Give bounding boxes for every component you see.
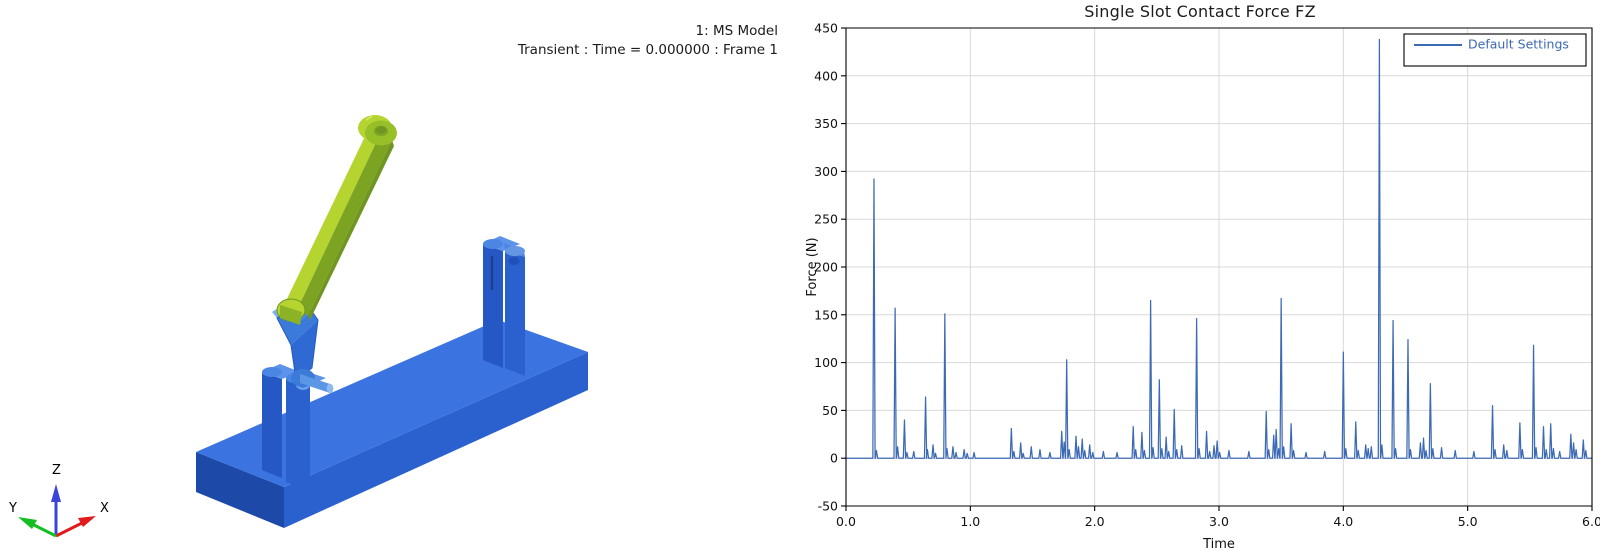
force-plot-svg[interactable]: -500501001502002503003504004500.01.02.03… (800, 0, 1600, 560)
x-tick-label: 6.0 (1582, 514, 1600, 529)
y-tick-label: 350 (814, 116, 838, 131)
y-tick-label: 300 (814, 164, 838, 179)
triad-z-axis: Z (51, 463, 61, 536)
plot-gridlines (846, 28, 1592, 506)
connecting-rod[interactable] (277, 115, 397, 325)
triad-z-label: Z (52, 463, 61, 478)
x-tick-label: 0.0 (836, 514, 856, 529)
plot-axis-labels: -500501001502002503003504004500.01.02.03… (805, 21, 1600, 553)
x-tick-label: 5.0 (1458, 514, 1478, 529)
model-viewport[interactable]: 1: MS Model Transient : Time = 0.000000 … (0, 0, 800, 560)
y-tick-label: 450 (814, 21, 838, 36)
force-plot-panel[interactable]: Single Slot Contact Force FZ -5005010015… (800, 0, 1600, 560)
y-tick-label: 0 (830, 451, 838, 466)
y-tick-label: 150 (814, 307, 838, 322)
coordinate-triad: Z X Y (4, 444, 134, 554)
application-window: 1: MS Model Transient : Time = 0.000000 … (0, 0, 1600, 560)
y-tick-label: 400 (814, 68, 838, 83)
x-tick-label: 2.0 (1085, 514, 1105, 529)
triad-x-label: X (100, 501, 109, 516)
y-tick-label: -50 (818, 499, 838, 514)
legend-label: Default Settings (1468, 37, 1569, 52)
base-plate[interactable] (196, 320, 588, 528)
plot-axes (841, 28, 1592, 511)
x-tick-label: 3.0 (1209, 514, 1229, 529)
y-tick-label: 100 (814, 355, 838, 370)
x-tick-label: 1.0 (960, 514, 980, 529)
x-axis-title: Time (1202, 537, 1235, 552)
triad-y-axis: Y (8, 501, 56, 536)
y-axis-title: Force (N) (805, 237, 820, 296)
y-tick-label: 50 (822, 403, 838, 418)
plot-legend[interactable]: Default Settings (1404, 34, 1586, 66)
triad-y-label: Y (8, 501, 17, 516)
triad-x-axis: X (56, 501, 109, 536)
x-tick-label: 4.0 (1333, 514, 1353, 529)
y-tick-label: 250 (814, 212, 838, 227)
